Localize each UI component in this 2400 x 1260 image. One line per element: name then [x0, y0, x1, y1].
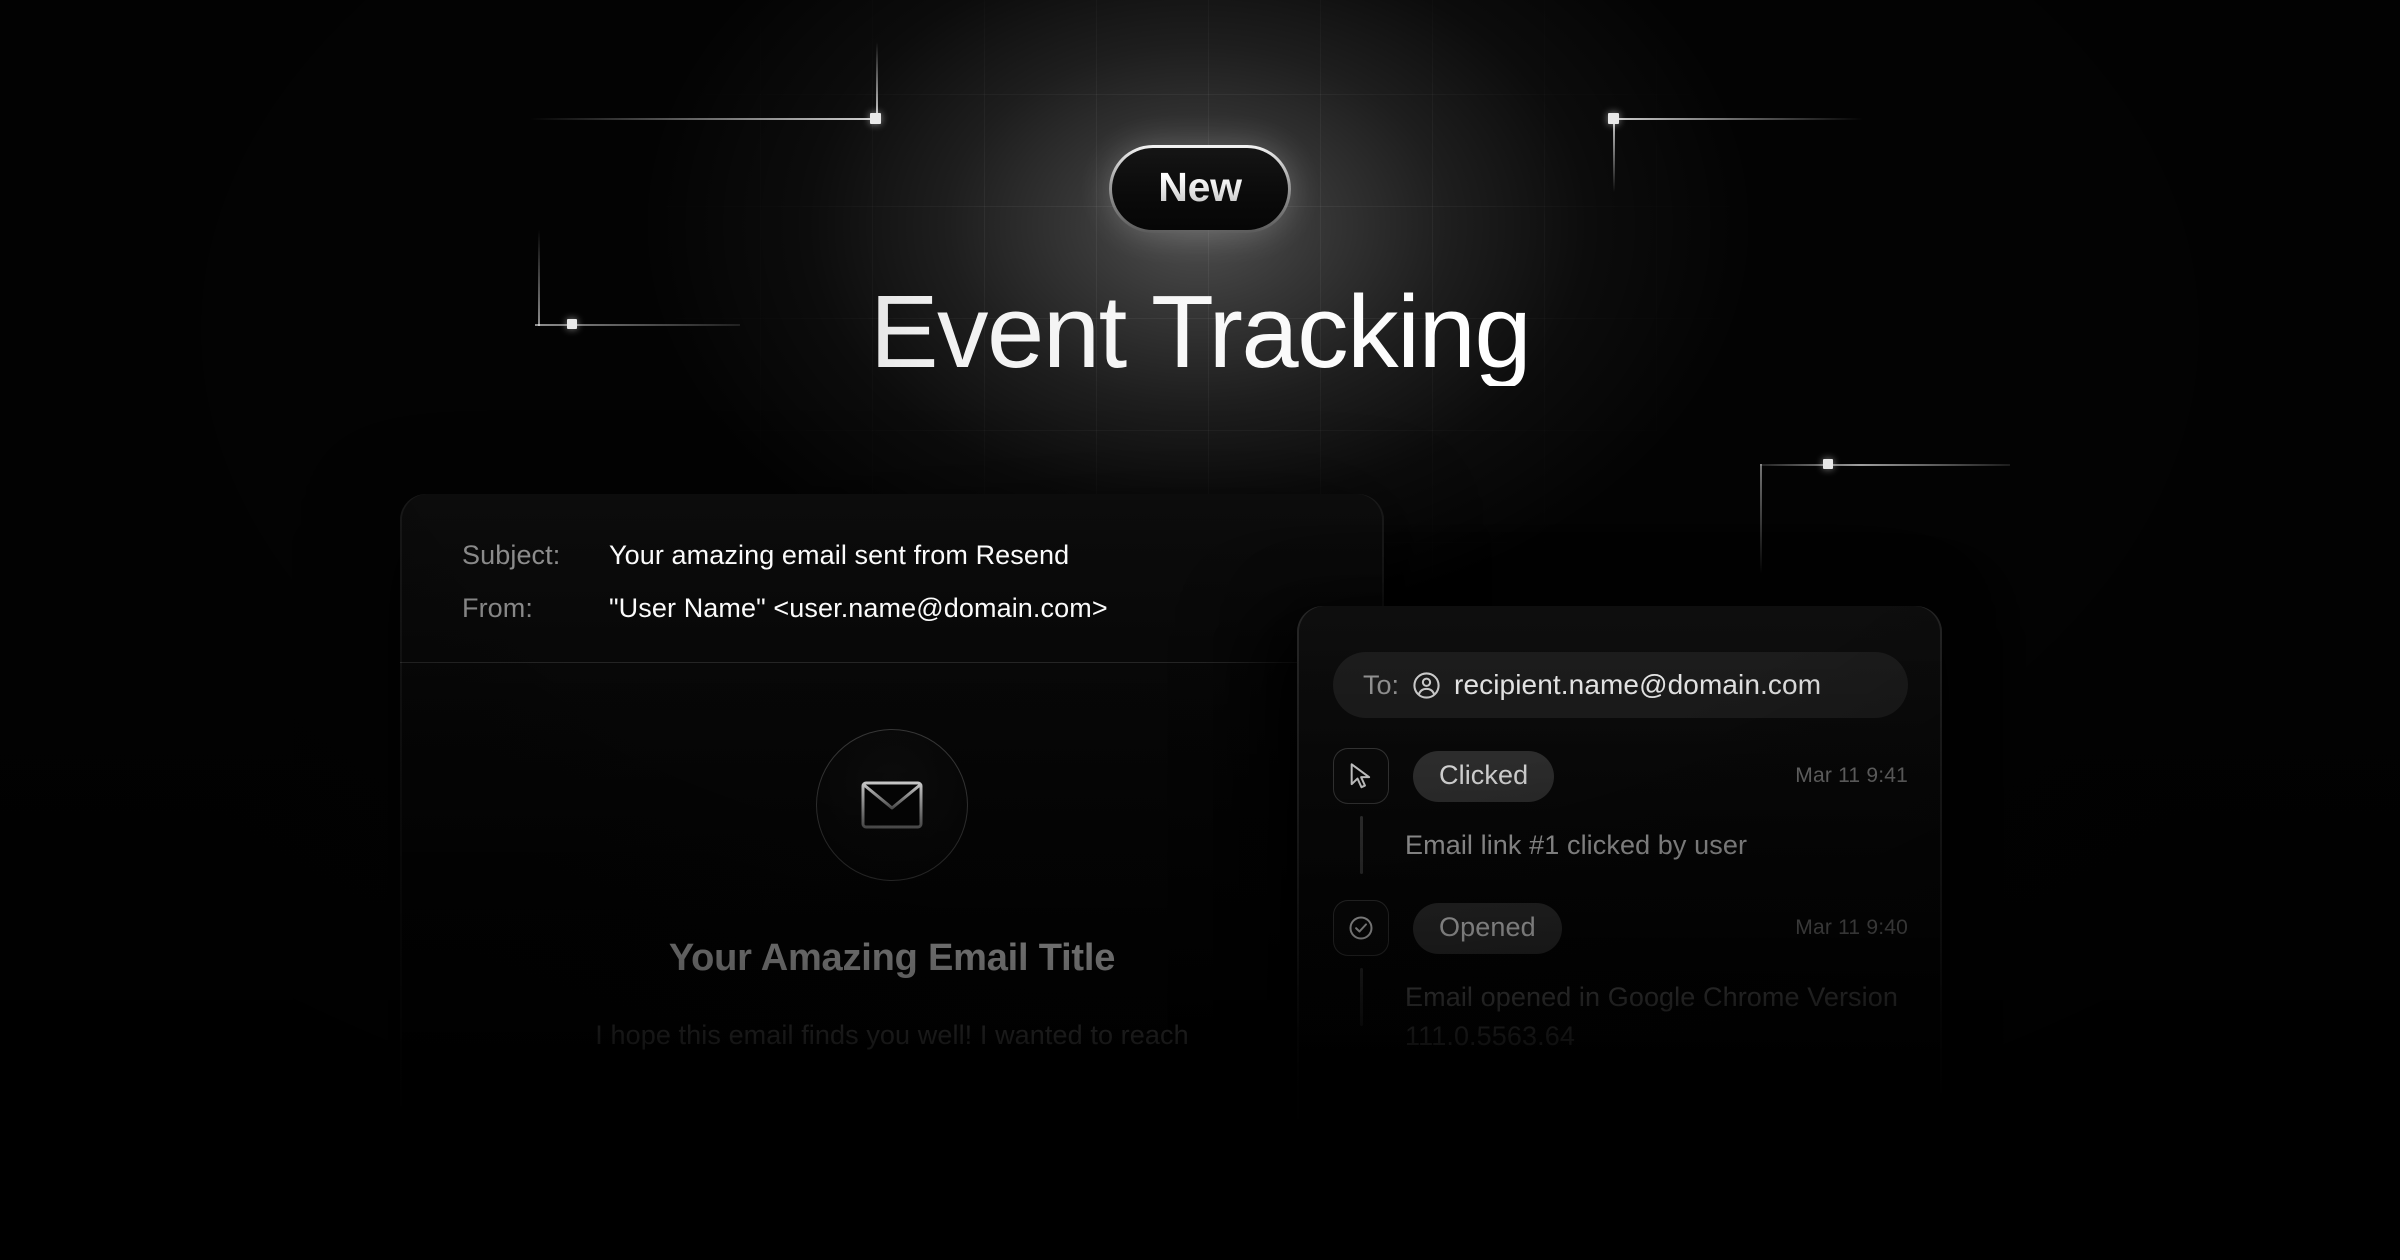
background-vignette — [0, 0, 2400, 1260]
hero-stage: New Event Tracking Subject: Your amazing… — [0, 0, 2400, 1260]
